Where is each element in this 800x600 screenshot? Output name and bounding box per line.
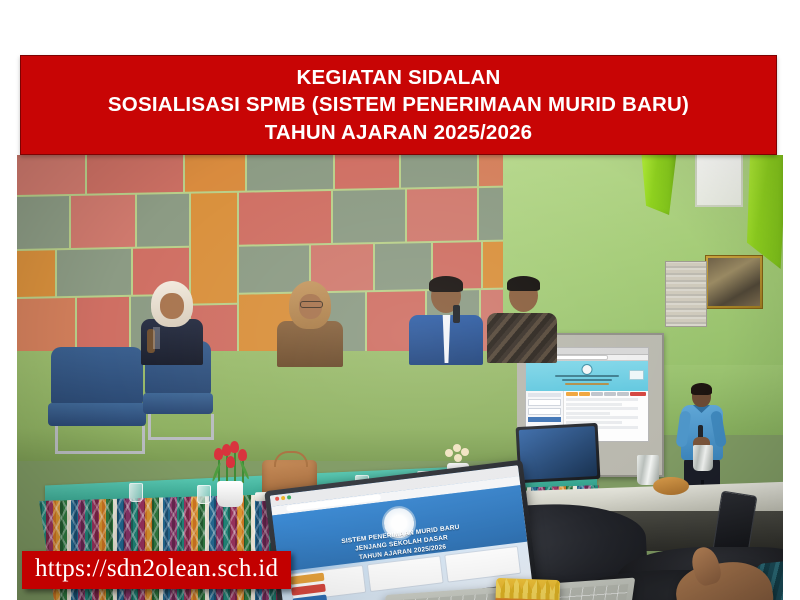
steel-cup-2 <box>693 445 713 471</box>
slide-canvas: SISTEM PENERIMAAN MURID BARU JENJANG SEK… <box>0 0 800 600</box>
window <box>695 155 743 207</box>
snack-bag: KUACI Fuzo <box>492 578 560 600</box>
drinking-glass-2 <box>197 485 211 504</box>
seated-man-blue-jacket <box>409 277 483 363</box>
wall-picture-frame <box>705 255 763 309</box>
snack-plate <box>653 477 689 495</box>
wall-poster <box>665 261 707 327</box>
chair-left <box>51 347 143 451</box>
title-line-2: SOSIALISASI SPMB (SISTEM PENERIMAAN MURI… <box>108 91 689 118</box>
foreground-laptop-screen: SISTEM PENERIMAAN MURID BARU JENJANG SEK… <box>270 465 533 600</box>
title-banner: KEGIATAN SIDALAN SOSIALISASI SPMB (SISTE… <box>20 55 777 155</box>
seated-man-batik <box>487 277 557 361</box>
flower-pot <box>217 481 243 507</box>
title-line-3: TAHUN AJARAN 2025/2026 <box>265 119 533 146</box>
seated-woman-2 <box>275 281 347 363</box>
laptop-right <box>516 423 601 483</box>
drinking-glass-1 <box>129 483 143 502</box>
event-photo: SISTEM PENERIMAAN MURID BARU JENJANG SEK… <box>17 155 783 600</box>
website-url: https://sdn2olean.sch.id <box>35 555 278 583</box>
seated-woman-1 <box>137 281 207 361</box>
url-watermark-banner: https://sdn2olean.sch.id <box>22 551 291 589</box>
title-line-1: KEGIATAN SIDALAN <box>296 64 500 91</box>
